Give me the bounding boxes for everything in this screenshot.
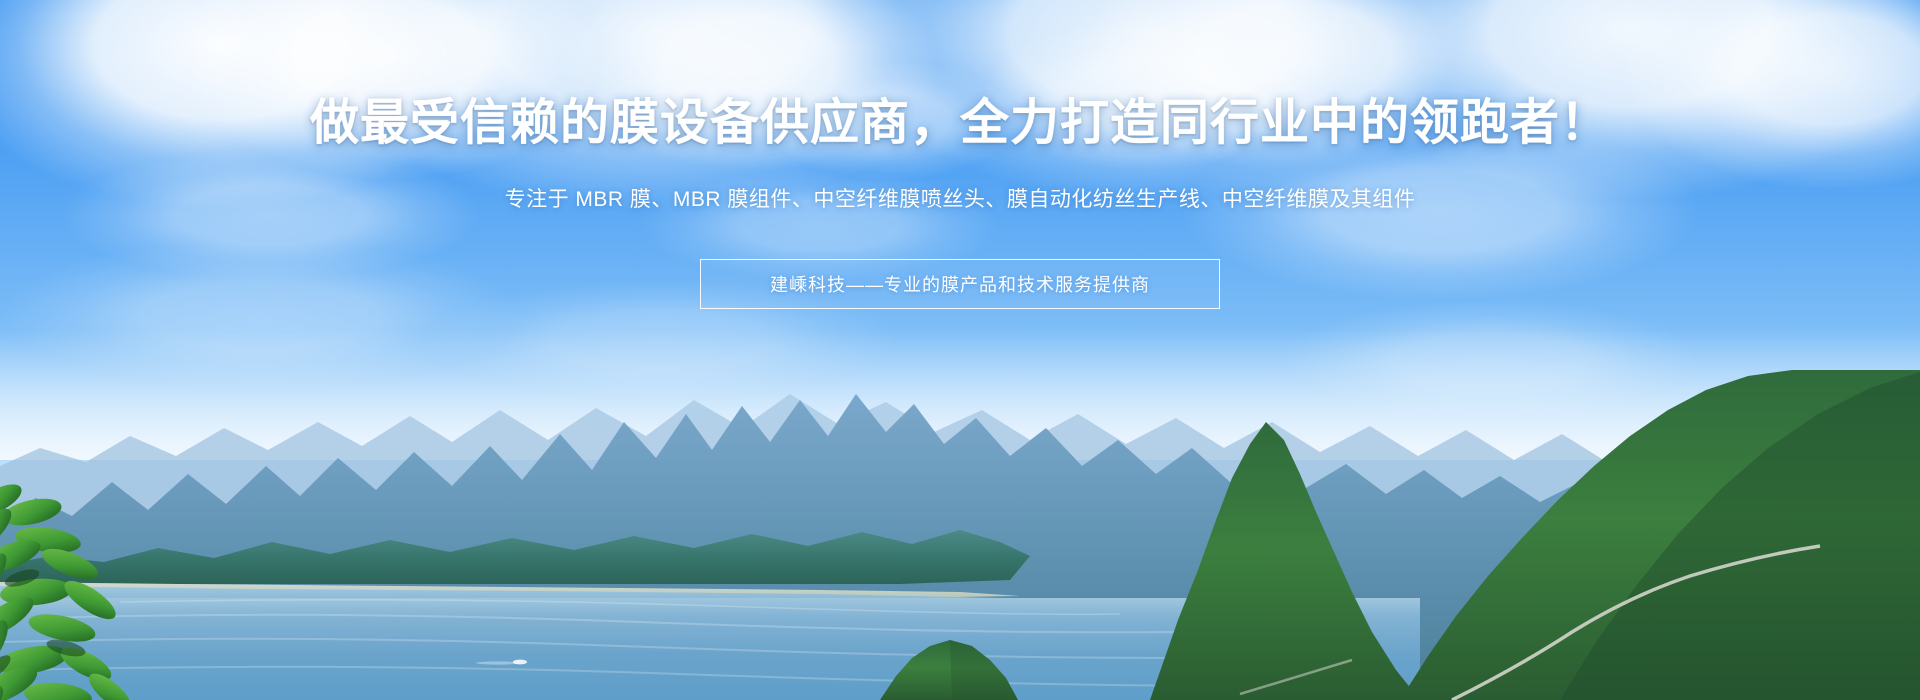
tagline-container: 建嵊科技——专业的膜产品和技术服务提供商 [0, 259, 1920, 309]
boat-wake [476, 661, 520, 664]
foreground-foliage [0, 460, 180, 700]
tagline-box[interactable]: 建嵊科技——专业的膜产品和技术服务提供商 [700, 259, 1220, 309]
hero-banner: 做最受信赖的膜设备供应商，全力打造同行业中的领跑者！ 专注于 MBR 膜、MBR… [0, 0, 1920, 700]
banner-headline: 做最受信赖的膜设备供应商，全力打造同行业中的领跑者！ [0, 0, 1920, 149]
banner-content: 做最受信赖的膜设备供应商，全力打造同行业中的领跑者！ 专注于 MBR 膜、MBR… [0, 0, 1920, 309]
banner-subtitle: 专注于 MBR 膜、MBR 膜组件、中空纤维膜喷丝头、膜自动化纺丝生产线、中空纤… [0, 149, 1920, 214]
landscape-scene [0, 370, 1920, 700]
